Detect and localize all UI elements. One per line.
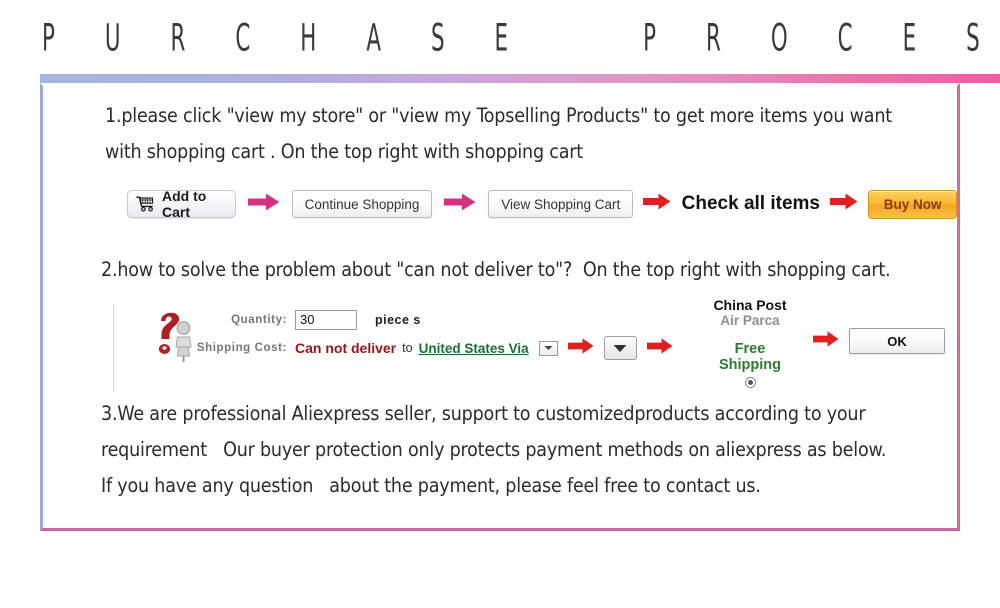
step-2-text: 2.how to solve the problem about "can no… (101, 252, 911, 288)
arrow-right-icon-7 (813, 331, 839, 352)
shopping-cart-icon (136, 196, 156, 212)
add-to-cart-button[interactable]: Add to Cart (127, 190, 236, 218)
gradient-divider (40, 74, 1000, 83)
chevron-down-icon-large (613, 344, 627, 353)
arrow-right-icon-6 (647, 338, 673, 359)
free-shipping-line2: Shipping (685, 357, 815, 373)
arrow-right-icon-3 (643, 193, 671, 215)
ok-button-label: OK (887, 334, 907, 349)
shipping-fields: Quantity: 30 piece s Shipping Cost: Can … (191, 306, 683, 362)
view-shopping-cart-label: View Shopping Cart (501, 197, 620, 212)
carrier-name-line2: Air Parca (685, 313, 815, 329)
arrow-right-icon-2 (444, 193, 476, 216)
step-3-text: 3.We are professional Aliexpress seller,… (101, 396, 901, 504)
add-to-cart-label: Add to Cart (162, 188, 223, 220)
country-dropdown-small[interactable] (539, 341, 558, 356)
country-link[interactable]: United States Via (419, 341, 529, 356)
shipping-cost-label: Shipping Cost: (191, 342, 295, 354)
continue-shopping-label: Continue Shopping (305, 197, 420, 212)
page-title: P U R C H A S E P R O C E S S (42, 16, 704, 61)
to-word-label: to (402, 341, 412, 355)
vertical-divider (113, 304, 114, 392)
shipping-cost-row: Shipping Cost: Can not deliver to United… (191, 334, 683, 362)
quantity-label: Quantity: (191, 314, 295, 326)
cart-flow-diagram: Add to Cart Continue Shopping View Sho (127, 184, 957, 224)
shipping-widget-diagram: Quantity: 30 piece s Shipping Cost: Can … (113, 298, 943, 398)
quantity-input[interactable]: 30 (295, 310, 357, 330)
check-all-items-label: Check all items (682, 193, 820, 215)
shipping-option-china-post[interactable]: China Post Air Parca Free Shipping (685, 298, 815, 388)
purchase-process-page: P U R C H A S E P R O C E S S 1.please c… (0, 0, 1000, 608)
content-panel: 1.please click "view my store" or "view … (40, 83, 960, 531)
page-banner: P U R C H A S E P R O C E S S (0, 0, 1000, 80)
ok-confirm-group: OK (813, 328, 945, 354)
buy-now-label: Buy Now (884, 197, 942, 212)
shipping-option-radio[interactable] (745, 377, 756, 388)
shipping-method-dropdown[interactable] (604, 336, 637, 360)
buy-now-button[interactable]: Buy Now (868, 190, 957, 219)
carrier-name-line1: China Post (685, 298, 815, 313)
chevron-down-icon-small (544, 345, 553, 351)
arrow-right-icon-5 (568, 338, 594, 359)
arrow-right-icon-4 (830, 193, 858, 215)
arrow-right-icon-1 (248, 193, 280, 216)
quantity-row: Quantity: 30 piece s (191, 306, 683, 334)
view-shopping-cart-button[interactable]: View Shopping Cart (488, 190, 633, 218)
piece-unit-label: piece s (375, 313, 421, 327)
continue-shopping-button[interactable]: Continue Shopping (292, 190, 433, 218)
cannot-deliver-text: Can not deliver (295, 340, 396, 356)
ok-button[interactable]: OK (849, 328, 945, 354)
free-shipping-line1: Free (685, 341, 815, 357)
step-1-text: 1.please click "view my store" or "view … (105, 98, 905, 170)
